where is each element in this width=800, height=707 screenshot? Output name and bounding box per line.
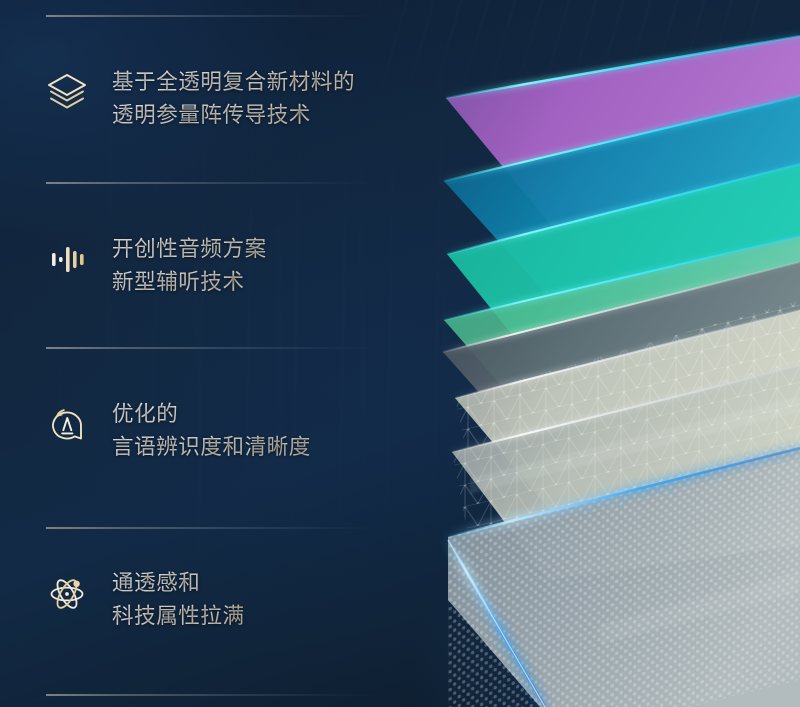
layer-specular-highlights — [470, 396, 800, 644]
feature-panel-root: 基于全透明复合新材料的 透明参量阵传导技术 开创性音频方案 新型辅听技术 — [0, 0, 800, 707]
feature-text-transparent-composite-material: 基于全透明复合新材料的 透明参量阵传导技术 — [112, 65, 355, 132]
layers-stack-icon — [44, 69, 90, 115]
feature-line-1: 优化的 — [112, 398, 311, 431]
divider-bottom — [46, 694, 376, 696]
feature-item-transparency-and-tech[interactable]: 通透感和 科技属性拉满 — [44, 566, 245, 633]
feature-line-2: 透明参量阵传导技术 — [112, 99, 355, 132]
feature-item-pioneering-audio-solution[interactable]: 开创性音频方案 新型辅听技术 — [44, 232, 267, 299]
layer-mesh-silver-2 — [452, 255, 800, 626]
audio-waveform-icon — [44, 236, 90, 282]
feature-item-optimized-speech-clarity[interactable]: 优化的 言语辨识度和清晰度 — [44, 397, 311, 464]
feature-line-2: 科技属性拉满 — [112, 600, 245, 633]
layer-lavender — [560, 190, 800, 292]
feature-text-optimized-speech-clarity: 优化的 言语辨识度和清晰度 — [112, 397, 311, 464]
speech-bubble-a-icon — [44, 401, 90, 447]
background-top-glint — [380, 0, 760, 120]
layer-dot-matrix — [448, 330, 800, 707]
feature-line-2: 新型辅听技术 — [112, 266, 267, 299]
divider-3 — [46, 527, 376, 529]
layer-teal — [447, 164, 800, 394]
atom-icon — [44, 570, 90, 616]
divider-2 — [46, 347, 376, 349]
feature-text-transparency-and-tech: 通透感和 科技属性拉满 — [112, 566, 245, 633]
feature-line-1: 开创性音频方案 — [112, 233, 267, 266]
feature-line-1: 基于全透明复合新材料的 — [112, 66, 355, 99]
divider-top — [46, 15, 376, 17]
feature-line-2: 言语辨识度和清晰度 — [112, 431, 311, 464]
layer-green — [444, 236, 800, 448]
layer-purple — [446, 36, 800, 236]
layer-mesh-silver — [455, 199, 800, 560]
feature-line-1: 通透感和 — [112, 567, 245, 600]
layer-graphite — [443, 262, 800, 470]
feature-item-transparent-composite-material[interactable]: 基于全透明复合新材料的 透明参量阵传导技术 — [44, 65, 355, 132]
feature-text-pioneering-audio-solution: 开创性音频方案 新型辅听技术 — [112, 232, 267, 299]
feature-list: 基于全透明复合新材料的 透明参量阵传导技术 开创性音频方案 新型辅听技术 — [0, 0, 420, 707]
divider-1 — [46, 182, 376, 184]
layer-blue — [444, 96, 800, 316]
